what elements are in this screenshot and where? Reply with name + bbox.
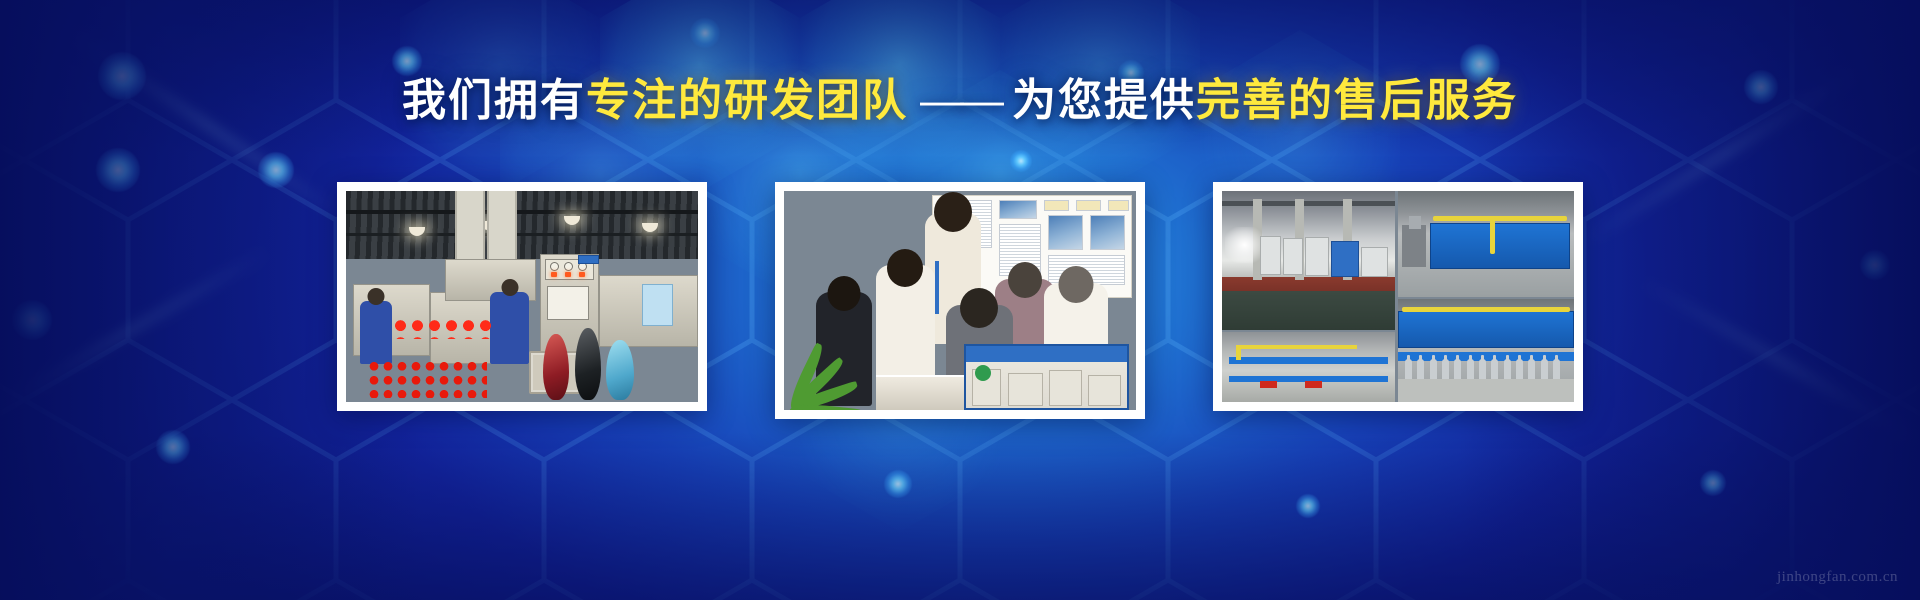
page-title: 我们拥有专注的研发团队——为您提供完善的售后服务	[0, 78, 1920, 124]
person-standing-lanyard	[935, 261, 939, 314]
product-vase	[575, 328, 601, 400]
headline-segment-yellow-2: 完善的售后服务	[1196, 76, 1518, 125]
foreground-plant	[791, 336, 875, 410]
headline-em-dash: ——	[908, 76, 1012, 125]
headline-segment-white-1: 我们拥有	[402, 76, 586, 125]
promo-banner: 我们拥有专注的研发团队——为您提供完善的售后服务	[0, 0, 1920, 600]
headline-segment-white-2: 为您提供	[1012, 76, 1196, 125]
photo-equipment-collage	[1222, 191, 1574, 402]
collage-cell-conveyor	[1222, 332, 1395, 402]
product-vase	[543, 334, 569, 400]
photo-customer-meeting	[784, 191, 1136, 410]
headline-segment-yellow-1: 专注的研发团队	[586, 76, 908, 125]
photo-panel-row	[0, 182, 1920, 419]
photo-production-line	[346, 191, 698, 402]
collage-cell-plating-hooks	[1398, 299, 1574, 402]
panel-production-line[interactable]	[337, 182, 707, 411]
panel-equipment-collage[interactable]	[1213, 182, 1583, 411]
equipment-model	[964, 344, 1129, 410]
panel-customer-meeting[interactable]	[775, 182, 1145, 419]
product-vase	[606, 340, 634, 400]
collage-cell-oven-hall	[1222, 191, 1395, 330]
worker-figure	[360, 301, 392, 364]
collage-cell-blue-tank	[1398, 191, 1574, 297]
person-seated	[876, 265, 936, 392]
site-watermark: jinhongfan.com.cn	[1777, 569, 1898, 586]
